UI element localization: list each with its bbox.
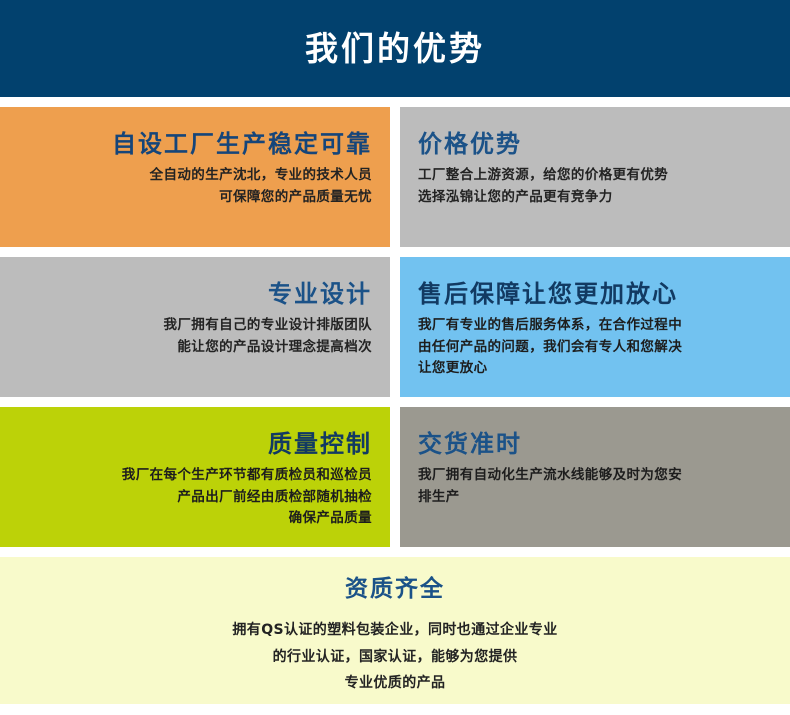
card-body-line: 的行业认证，国家认证，能够为您提供	[232, 644, 557, 670]
advantage-card-factory: 自设工厂生产稳定可靠 全自动的生产沈北，专业的技术人员 可保障您的产品质量无忧	[0, 107, 390, 247]
card-body-line: 可保障您的产品质量无忧	[150, 187, 372, 209]
card-body-line: 我厂在每个生产环节都有质检员和巡检员	[122, 465, 372, 487]
card-body-line: 拥有QS认证的塑料包装企业，同时也通过企业专业	[232, 617, 557, 643]
card-body-line: 选择泓锦让您的产品更有竞争力	[418, 187, 668, 209]
card-body-line: 排生产	[418, 487, 682, 509]
card-title: 质量控制	[268, 429, 372, 460]
card-body-line: 我厂拥有自己的专业设计排版团队	[164, 315, 373, 337]
card-body: 拥有QS认证的塑料包装企业，同时也通过企业专业 的行业认证，国家认证，能够为您提…	[232, 617, 557, 696]
page-header-banner: 我们的优势	[0, 0, 790, 97]
card-body-line: 我厂拥有自动化生产流水线能够及时为您安	[418, 465, 682, 487]
advantage-card-after-sales: 售后保障让您更加放心 我厂有专业的售后服务体系，在合作过程中 由任何产品的问题，…	[400, 257, 790, 397]
card-body: 我厂拥有自己的专业设计排版团队 能让您的产品设计理念提高档次	[164, 315, 373, 359]
card-title: 价格优势	[418, 129, 522, 160]
card-body-line: 专业优质的产品	[232, 670, 557, 696]
advantage-card-grid: 自设工厂生产稳定可靠 全自动的生产沈北，专业的技术人员 可保障您的产品质量无忧 …	[0, 107, 790, 704]
card-title: 资质齐全	[345, 575, 445, 604]
card-body-line: 我厂有专业的售后服务体系，在合作过程中	[418, 315, 682, 337]
card-body: 我厂拥有自动化生产流水线能够及时为您安 排生产	[418, 465, 682, 509]
advantage-card-quality-control: 质量控制 我厂在每个生产环节都有质检员和巡检员 产品出厂前经由质检部随机抽检 确…	[0, 407, 390, 547]
advantages-page: 我们的优势 自设工厂生产稳定可靠 全自动的生产沈北，专业的技术人员 可保障您的产…	[0, 0, 790, 715]
advantage-card-certifications: 资质齐全 拥有QS认证的塑料包装企业，同时也通过企业专业 的行业认证，国家认证，…	[0, 557, 790, 704]
card-body: 工厂整合上游资源，给您的价格更有优势 选择泓锦让您的产品更有竞争力	[418, 165, 668, 209]
card-body-line: 产品出厂前经由质检部随机抽检	[122, 487, 372, 509]
page-title: 我们的优势	[305, 32, 485, 65]
advantage-card-design: 专业设计 我厂拥有自己的专业设计排版团队 能让您的产品设计理念提高档次	[0, 257, 390, 397]
card-title: 交货准时	[418, 429, 522, 460]
card-title: 自设工厂生产稳定可靠	[112, 129, 372, 160]
card-body: 我厂有专业的售后服务体系，在合作过程中 由任何产品的问题，我们会有专人和您解决 …	[418, 315, 682, 381]
card-body-line: 确保产品质量	[122, 508, 372, 530]
card-title: 专业设计	[268, 279, 372, 310]
card-title: 售后保障让您更加放心	[418, 279, 678, 310]
advantage-card-price: 价格优势 工厂整合上游资源，给您的价格更有优势 选择泓锦让您的产品更有竞争力	[400, 107, 790, 247]
card-body-line: 工厂整合上游资源，给您的价格更有优势	[418, 165, 668, 187]
card-body-line: 让您更放心	[418, 358, 682, 380]
card-body-line: 由任何产品的问题，我们会有专人和您解决	[418, 337, 682, 359]
card-body: 全自动的生产沈北，专业的技术人员 可保障您的产品质量无忧	[150, 165, 372, 209]
card-body-line: 能让您的产品设计理念提高档次	[164, 337, 373, 359]
card-body-line: 全自动的生产沈北，专业的技术人员	[150, 165, 372, 187]
card-body: 我厂在每个生产环节都有质检员和巡检员 产品出厂前经由质检部随机抽检 确保产品质量	[122, 465, 372, 531]
advantage-card-on-time-delivery: 交货准时 我厂拥有自动化生产流水线能够及时为您安 排生产	[400, 407, 790, 547]
